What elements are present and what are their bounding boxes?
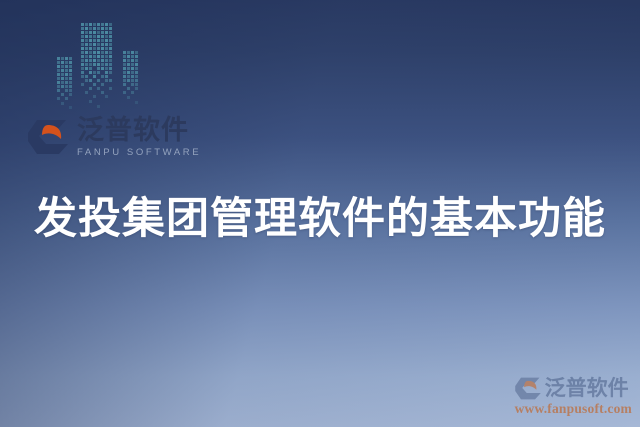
brand-logo: 泛普软件 FANPU SOFTWARE (28, 117, 201, 158)
fanpu-hexagon-sail-logo-icon (28, 119, 68, 155)
watermark: 泛普软件 www.fanpusoft.com (515, 377, 632, 416)
banner-canvas: 泛普软件 FANPU SOFTWARE 发投集团管理软件的基本功能 泛普软件 w… (0, 0, 640, 427)
pixel-cityscape-icon (52, 16, 144, 114)
watermark-url: www.fanpusoft.com (515, 402, 632, 416)
page-title: 发投集团管理软件的基本功能 (0, 184, 640, 246)
watermark-fanpu-logo-icon (515, 377, 541, 400)
watermark-name-cn: 泛普软件 (545, 378, 629, 399)
brand-name-en: FANPU SOFTWARE (77, 148, 201, 158)
brand-name-cn: 泛普软件 (77, 117, 201, 144)
